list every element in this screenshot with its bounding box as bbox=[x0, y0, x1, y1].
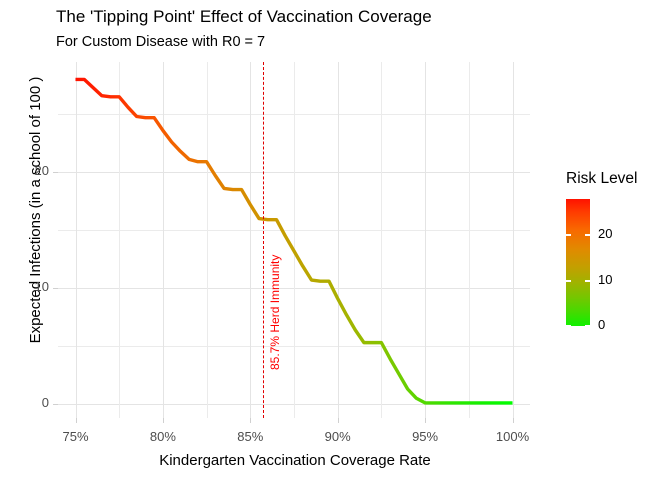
legend-title: Risk Level bbox=[566, 170, 638, 188]
herd-immunity-label: 85.7% Herd Immunity bbox=[268, 255, 282, 370]
herd-immunity-threshold-line bbox=[263, 62, 264, 418]
y-axis-tick-mark bbox=[53, 288, 58, 289]
y-axis-tick-label: 0 bbox=[42, 395, 49, 410]
legend-tick-label: 20 bbox=[598, 226, 612, 241]
x-axis-tick-mark bbox=[76, 418, 77, 423]
page-title: The 'Tipping Point' Effect of Vaccinatio… bbox=[56, 7, 432, 27]
x-axis-tick-mark bbox=[250, 418, 251, 423]
x-axis-tick-label: 95% bbox=[385, 429, 465, 444]
x-axis-tick-label: 100% bbox=[473, 429, 553, 444]
y-axis-tick-label: 10 bbox=[35, 279, 49, 294]
x-axis-tick-label: 80% bbox=[123, 429, 203, 444]
y-axis-tick-mark bbox=[53, 172, 58, 173]
y-axis-tick-mark bbox=[53, 404, 58, 405]
chart-subtitle: For Custom Disease with R0 = 7 bbox=[56, 34, 265, 50]
x-axis-tick-label: 90% bbox=[298, 429, 378, 444]
x-axis-title: Kindergarten Vaccination Coverage Rate bbox=[70, 452, 520, 469]
legend-colorbar bbox=[566, 199, 590, 326]
legend-tick-label: 0 bbox=[598, 317, 605, 332]
data-series-line bbox=[58, 62, 530, 418]
x-axis-tick-label: 85% bbox=[210, 429, 290, 444]
x-axis-tick-label: 75% bbox=[36, 429, 116, 444]
legend-tick-label: 10 bbox=[598, 272, 612, 287]
x-axis-tick-mark bbox=[425, 418, 426, 423]
x-axis-tick-mark bbox=[513, 418, 514, 423]
x-axis-tick-mark bbox=[338, 418, 339, 423]
y-axis-tick-label: 20 bbox=[35, 163, 49, 178]
x-axis-tick-mark bbox=[163, 418, 164, 423]
y-axis-title: Expected Infections (in a school of 100 … bbox=[24, 0, 48, 420]
chart-root: The 'Tipping Point' Effect of Vaccinatio… bbox=[0, 0, 672, 480]
